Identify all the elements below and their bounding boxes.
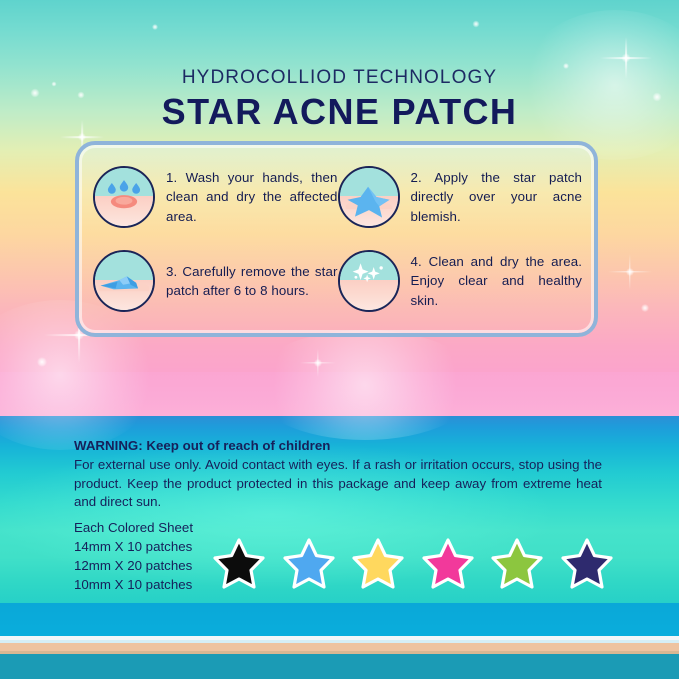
product-eyebrow-title: HYDROCOLLIOD TECHNOLOGY	[0, 68, 679, 87]
instructions-panel: 1. Wash your hands, then clean and dry t…	[75, 141, 598, 337]
pink-horizon-band	[0, 372, 679, 418]
product-insert-poster: HYDROCOLLIOD TECHNOLOGY STAR ACNE PATCH	[0, 0, 679, 679]
instruction-step-1-text: 1. Wash your hands, then clean and dry t…	[166, 168, 338, 226]
warning-heading: WARNING: Keep out of reach of children	[74, 437, 602, 455]
clear-skin-sparkle-icon	[338, 250, 400, 312]
page-title: STAR ACNE PATCH	[0, 94, 679, 130]
star-pink	[422, 537, 474, 589]
sheet-spec-block: Each Colored Sheet 14mm X 10 patches 12m…	[74, 519, 193, 595]
star-blue	[283, 537, 335, 589]
sheet-spec-line-12mm: 12mm X 20 patches	[74, 557, 193, 576]
instruction-steps-grid: 1. Wash your hands, then clean and dry t…	[79, 145, 594, 333]
poster-title-block: HYDROCOLLIOD TECHNOLOGY STAR ACNE PATCH	[0, 68, 679, 130]
sheet-spec-line-10mm: 10mm X 10 patches	[74, 576, 193, 595]
instruction-step-1: 1. Wash your hands, then clean and dry t…	[93, 155, 338, 239]
star-yellow	[352, 537, 404, 589]
warning-body-text: For external use only. Avoid contact wit…	[74, 456, 602, 512]
bottom-teal-footer	[0, 654, 679, 679]
bottom-cyan-band	[0, 603, 679, 636]
sheet-spec-line-14mm: 14mm X 10 patches	[74, 538, 193, 557]
star-navy	[561, 537, 613, 589]
instruction-step-4: 4. Clean and dry the area. Enjoy clear a…	[338, 239, 583, 323]
warning-block: WARNING: Keep out of reach of children F…	[74, 437, 602, 512]
bottom-stripe-peach	[0, 643, 679, 651]
apply-star-patch-icon	[338, 166, 400, 228]
instruction-step-2-text: 2. Apply the star patch directly over yo…	[411, 168, 583, 226]
instruction-step-2: 2. Apply the star patch directly over yo…	[338, 155, 583, 239]
star-black	[213, 537, 265, 589]
star-green	[491, 537, 543, 589]
sheet-spec-title: Each Colored Sheet	[74, 519, 193, 538]
wash-droplets-icon	[93, 166, 155, 228]
remove-star-patch-icon	[93, 250, 155, 312]
instruction-step-4-text: 4. Clean and dry the area. Enjoy clear a…	[411, 252, 583, 310]
star-color-swatch-row	[213, 532, 613, 594]
instruction-step-3-text: 3. Carefully remove the star patch after…	[166, 262, 338, 301]
instruction-step-3: 3. Carefully remove the star patch after…	[93, 239, 338, 323]
